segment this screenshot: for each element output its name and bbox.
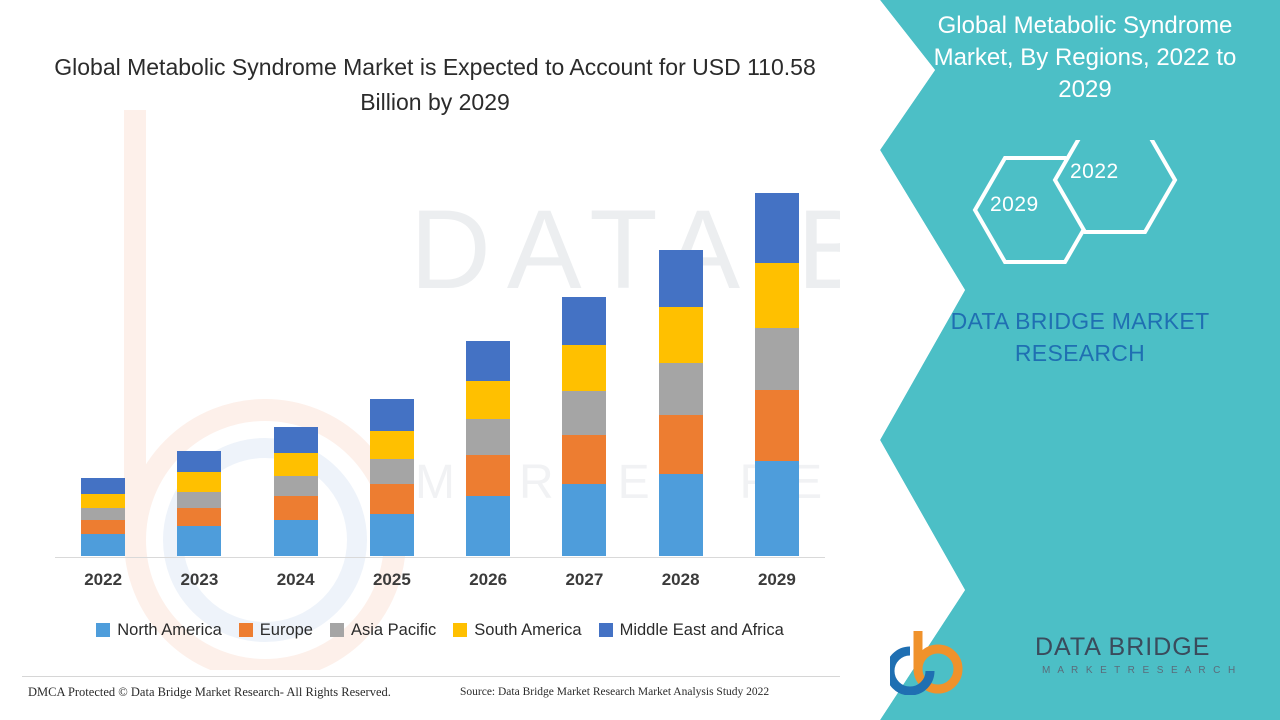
- right-side-panel: Global Metabolic Syndrome Market, By Reg…: [840, 0, 1280, 720]
- bar-column: [177, 451, 221, 556]
- bar-segment: [466, 455, 510, 497]
- bar-segment: [274, 520, 318, 556]
- hexagon-label-2022: 2022: [1070, 160, 1119, 184]
- bar-segment: [81, 494, 125, 508]
- footer-copyright: DMCA Protected © Data Bridge Market Rese…: [28, 685, 391, 700]
- bar-segment: [81, 534, 125, 556]
- legend-item[interactable]: Middle East and Africa: [599, 621, 784, 640]
- bar-segment: [274, 476, 318, 496]
- bar-column: [659, 250, 703, 556]
- bar-segment: [562, 435, 606, 485]
- bar-column: [81, 478, 125, 556]
- bar-segment: [466, 496, 510, 556]
- bar-column: [274, 427, 318, 556]
- bar-segment: [562, 297, 606, 345]
- bar-segment: [81, 478, 125, 494]
- bar-segment: [370, 459, 414, 485]
- legend-swatch-icon: [453, 623, 467, 637]
- panel-title: Global Metabolic Syndrome Market, By Reg…: [920, 10, 1250, 106]
- bar-segment: [370, 514, 414, 556]
- bar-segment: [562, 484, 606, 556]
- bar-segment: [177, 472, 221, 492]
- bar-segment: [755, 328, 799, 390]
- legend-item[interactable]: South America: [453, 621, 581, 640]
- legend-label: Europe: [260, 621, 313, 640]
- bar-segment: [659, 415, 703, 475]
- bar-segment: [370, 431, 414, 459]
- legend-item[interactable]: North America: [96, 621, 222, 640]
- chart-legend: North AmericaEuropeAsia PacificSouth Ame…: [40, 617, 840, 643]
- bar-segment: [755, 263, 799, 329]
- bar-segment: [755, 461, 799, 556]
- hexagon-badges: 2029 2022: [960, 140, 1260, 280]
- bar-segment: [659, 363, 703, 415]
- bar-segment: [177, 508, 221, 526]
- x-axis-tick: 2027: [539, 570, 629, 590]
- bar-segment: [177, 526, 221, 556]
- legend-label: Middle East and Africa: [620, 621, 784, 640]
- chart-title: Global Metabolic Syndrome Market is Expe…: [40, 50, 830, 120]
- stacked-bar-chart: [55, 160, 825, 558]
- bar-segment: [659, 250, 703, 308]
- chart-plot-area: [40, 160, 840, 560]
- bar-column: [466, 341, 510, 556]
- bar-segment: [177, 492, 221, 508]
- bar-segment: [81, 508, 125, 520]
- logo-subtext: M A R K E T R E S E A R C H: [1042, 665, 1238, 676]
- x-axis-tick: 2024: [251, 570, 341, 590]
- panel-brand-name: DATA BRIDGE MARKET RESEARCH: [890, 305, 1270, 369]
- bar-segment: [755, 193, 799, 263]
- data-bridge-logo: DATA BRIDGE M A R K E T R E S E A R C H: [890, 625, 1270, 695]
- bar-segment: [466, 381, 510, 419]
- bar-column: [562, 297, 606, 556]
- bar-segment: [466, 341, 510, 381]
- hexagon-label-2029: 2029: [990, 193, 1039, 217]
- bar-segment: [659, 307, 703, 363]
- logo-mark-icon: [890, 625, 1020, 695]
- bar-segment: [81, 520, 125, 534]
- bar-segment: [466, 419, 510, 455]
- footer-source: Source: Data Bridge Market Research Mark…: [460, 686, 769, 698]
- legend-swatch-icon: [96, 623, 110, 637]
- bar-segment: [659, 474, 703, 556]
- x-axis-tick: 2022: [58, 570, 148, 590]
- legend-label: Asia Pacific: [351, 621, 436, 640]
- legend-swatch-icon: [599, 623, 613, 637]
- bar-segment: [370, 484, 414, 514]
- legend-label: North America: [117, 621, 222, 640]
- panel-content: Global Metabolic Syndrome Market, By Reg…: [840, 0, 1280, 720]
- x-axis-tick: 2029: [732, 570, 822, 590]
- legend-label: South America: [474, 621, 581, 640]
- legend-item[interactable]: Asia Pacific: [330, 621, 436, 640]
- legend-swatch-icon: [330, 623, 344, 637]
- x-axis-tick: 2026: [443, 570, 533, 590]
- bar-column: [755, 193, 799, 556]
- bar-segment: [274, 427, 318, 453]
- bar-segment: [562, 345, 606, 391]
- bar-segment: [177, 451, 221, 473]
- logo-text: DATA BRIDGE: [1035, 633, 1210, 662]
- bar-segment: [274, 453, 318, 477]
- bar-segment: [562, 391, 606, 435]
- bar-segment: [274, 496, 318, 520]
- legend-item[interactable]: Europe: [239, 621, 313, 640]
- x-axis-tick: 2025: [347, 570, 437, 590]
- x-axis-labels: 20222023202420252026202720282029: [40, 570, 840, 600]
- footer-divider: [22, 676, 842, 677]
- x-axis-tick: 2023: [154, 570, 244, 590]
- bar-segment: [755, 390, 799, 462]
- legend-swatch-icon: [239, 623, 253, 637]
- x-axis-tick: 2028: [636, 570, 726, 590]
- bar-segment: [370, 399, 414, 431]
- bar-column: [370, 399, 414, 556]
